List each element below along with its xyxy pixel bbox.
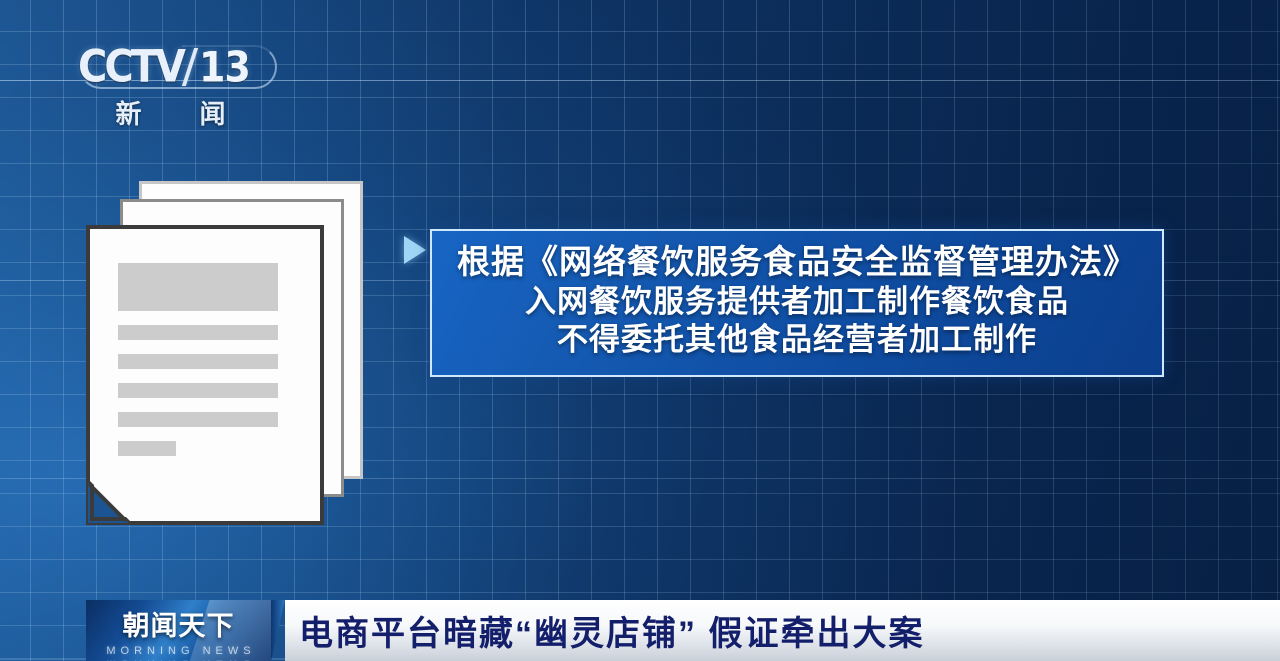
lower-third-banner: 朝闻天下 MORNING NEWS MORNING NEWS 电商平台暗藏“幽灵… <box>86 600 1280 661</box>
document-text-placeholders <box>118 263 278 470</box>
broadcast-frame: CCTV 13 新 闻 根据《网络餐饮服务食品安全监督管理办法》 <box>0 0 1280 661</box>
banner-notch-icon <box>271 600 285 661</box>
play-triangle-icon <box>404 236 426 264</box>
channel-logo-row: CCTV 13 <box>78 44 278 90</box>
placeholder-bar <box>118 263 278 311</box>
stacked-documents-icon <box>86 181 376 531</box>
program-name-en: MORNING NEWS <box>86 645 271 657</box>
headline-text: 电商平台暗藏“幽灵店铺” 假证牵出大案 <box>299 606 924 655</box>
placeholder-bar <box>118 325 278 340</box>
program-logo: 朝闻天下 MORNING NEWS MORNING NEWS <box>86 600 271 661</box>
callout-line-1: 根据《网络餐饮服务食品安全监督管理办法》 <box>457 243 1137 282</box>
placeholder-bar <box>118 441 176 456</box>
callout-line-2: 入网餐饮服务提供者加工制作餐饮食品 <box>525 284 1069 321</box>
channel-subtitle: 新 闻 <box>78 94 263 131</box>
program-name-en-reflection: MORNING NEWS <box>86 657 271 661</box>
headline-bar: 电商平台暗藏“幽灵店铺” 假证牵出大案 <box>285 600 1280 661</box>
program-name-cn: 朝闻天下 <box>86 604 271 643</box>
regulation-callout-box: 根据《网络餐饮服务食品安全监督管理办法》 入网餐饮服务提供者加工制作餐饮食品 不… <box>430 229 1164 377</box>
callout-line-3: 不得委托其他食品经营者加工制作 <box>557 322 1037 359</box>
document-page-front <box>86 225 324 525</box>
placeholder-bar <box>118 383 278 398</box>
page-fold-edge-icon <box>90 481 130 521</box>
placeholder-bar <box>118 354 278 369</box>
placeholder-bar <box>118 412 278 427</box>
channel-logo: CCTV 13 新 闻 <box>78 44 278 131</box>
